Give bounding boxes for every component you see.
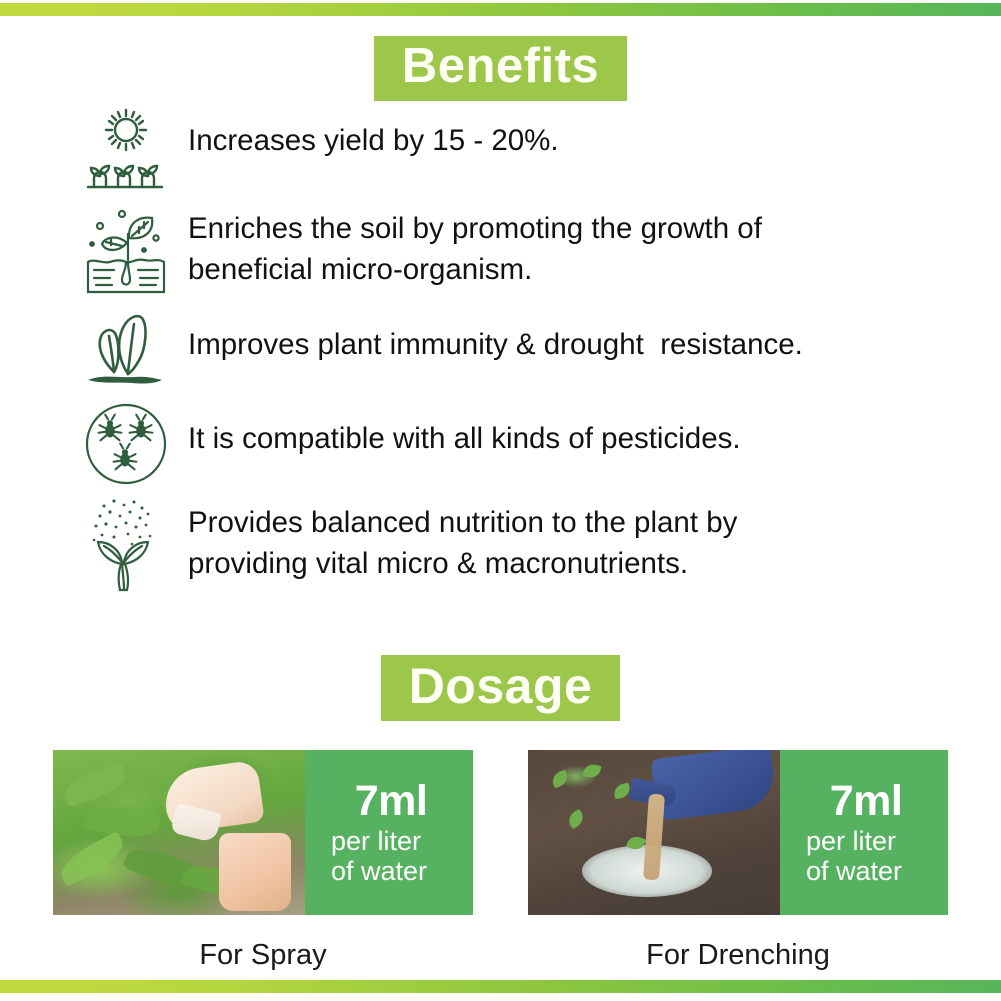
benefits-list: Increases yield by 15 - 20%. [0, 104, 1001, 602]
dosage-per-line-1: per liter [331, 826, 451, 856]
sprout-with-nutrients-icon [78, 494, 174, 594]
bottom-gradient-rule [0, 980, 1001, 993]
hand-spraying-plants-photo [53, 750, 305, 915]
benefit-text: Enriches the soil by promoting the growt… [174, 204, 762, 290]
benefit-text: Increases yield by 15 - 20%. [174, 104, 559, 161]
benefits-heading-wrap: Benefits [0, 36, 1001, 101]
benefits-heading: Benefits [374, 36, 627, 101]
dosage-heading-wrap: Dosage [0, 655, 1001, 721]
benefit-item: Increases yield by 15 - 20%. [0, 104, 1001, 196]
dosage-cards-area: 7ml per liter of water For Spray [0, 750, 1001, 972]
dosage-amount: 7ml [355, 780, 428, 823]
benefit-text: Improves plant immunity & drought resist… [174, 308, 803, 365]
dosage-amount-panel: 7ml per liter of water [305, 750, 473, 915]
dosage-caption: For Spray [53, 939, 473, 972]
plant-in-soil-icon [78, 204, 174, 300]
dosage-per-line-1: per liter [806, 826, 926, 856]
dosage-amount: 7ml [830, 780, 903, 823]
dosage-card: 7ml per liter of water [528, 750, 948, 915]
benefit-item: Provides balanced nutrition to the plant… [0, 494, 1001, 594]
watering-can-drenching-soil-photo [528, 750, 780, 915]
benefit-text: Provides balanced nutrition to the plant… [174, 494, 737, 584]
dosage-amount-panel: 7ml per liter of water [780, 750, 948, 915]
dosage-per-line-2: of water [806, 856, 926, 886]
infographic-page: Benefits [0, 0, 1001, 1001]
benefit-item: It is compatible with all kinds of pesti… [0, 402, 1001, 486]
benefit-item: Enriches the soil by promoting the growt… [0, 204, 1001, 300]
sun-over-sprouts-icon [78, 104, 174, 196]
dosage-cards: 7ml per liter of water For Spray [0, 750, 1001, 972]
benefit-item: Improves plant immunity & drought resist… [0, 308, 1001, 394]
top-gradient-rule [0, 3, 1001, 16]
benefit-text: It is compatible with all kinds of pesti… [174, 402, 741, 459]
dosage-caption: For Drenching [528, 939, 948, 972]
dosage-card-spray: 7ml per liter of water For Spray [53, 750, 473, 972]
spray-bottle-shape [219, 833, 291, 911]
dosage-card-drenching: 7ml per liter of water For Drenching [528, 750, 948, 972]
dosage-card: 7ml per liter of water [53, 750, 473, 915]
dosage-per-line-2: of water [331, 856, 451, 886]
two-leaves-icon [78, 308, 174, 394]
dosage-heading: Dosage [381, 655, 621, 721]
insects-in-circle-icon [78, 402, 174, 486]
